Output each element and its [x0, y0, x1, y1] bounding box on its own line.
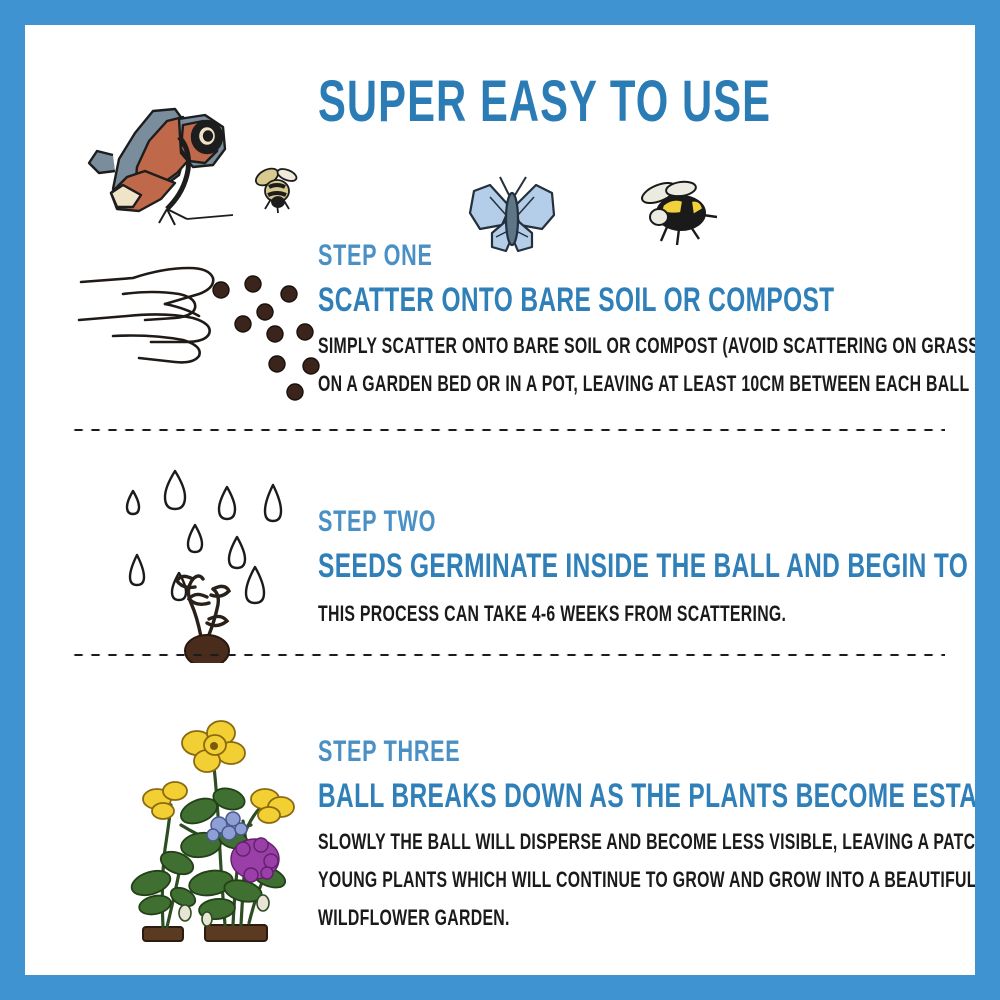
step-one-heading: SCATTER ONTO BARE SOIL OR COMPOST — [318, 283, 834, 317]
step-three-body-line-3: WILDFLOWER GARDEN. — [318, 907, 510, 929]
step-three-body-line-1: SLOWLY THE BALL WILL DISPERSE AND BECOME… — [318, 831, 975, 853]
divider-two — [70, 653, 945, 657]
step-two-body-line-1: THIS PROCESS CAN TAKE 4-6 WEEKS FROM SCA… — [318, 603, 786, 625]
step-three-heading: BALL BREAKS DOWN AS THE PLANTS BECOME ES… — [318, 779, 975, 813]
bumblebee-icon — [633, 177, 725, 247]
step-two-heading: SEEDS GERMINATE INSIDE THE BALL AND BEGI… — [318, 549, 975, 583]
step-one-body-line-1: SIMPLY SCATTER ONTO BARE SOIL OR COMPOST… — [318, 335, 975, 357]
small-bee-icon — [251, 161, 307, 217]
step-three-body-line-2: YOUNG PLANTS WHICH WILL CONTINUE TO GROW… — [318, 869, 975, 891]
hand-scattering-seed-balls-illustration — [73, 250, 333, 410]
infographic-panel: SUPER EASY TO USE STEP ONE SCATTER ONTO … — [25, 25, 975, 975]
wildflowers-illustration — [93, 713, 333, 953]
step-one-label: STEP ONE — [318, 241, 433, 271]
step-two-label: STEP TWO — [318, 507, 436, 537]
rain-and-sprouting-seed-ball-illustration — [103, 463, 303, 663]
divider-one — [70, 428, 945, 432]
page-title: SUPER EASY TO USE — [318, 73, 771, 131]
blue-butterfly-icon — [462, 173, 562, 255]
step-one-body-line-2: ON A GARDEN BED OR IN A POT, LEAVING AT … — [318, 373, 969, 395]
step-three-label: STEP THREE — [318, 737, 460, 767]
peacock-butterfly-icon — [83, 93, 263, 233]
